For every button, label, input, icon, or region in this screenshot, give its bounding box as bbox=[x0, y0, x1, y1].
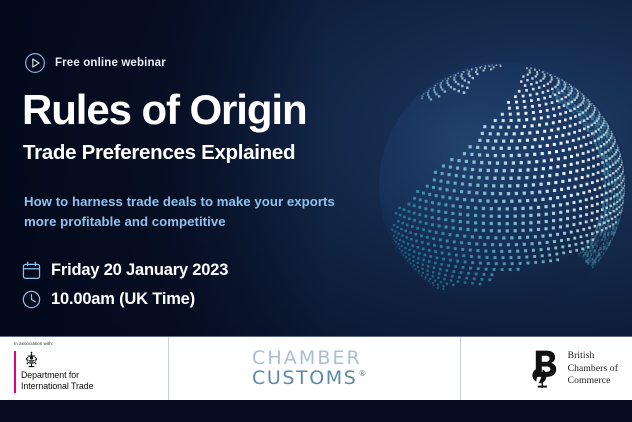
hero-section: Free online webinar Rules of Origin Trad… bbox=[0, 0, 632, 336]
hero-description: How to harness trade deals to make your … bbox=[24, 192, 354, 233]
royal-crest-icon bbox=[21, 351, 42, 368]
calendar-icon bbox=[21, 260, 42, 281]
dit-logo[interactable]: Department for International Trade bbox=[14, 351, 93, 393]
event-time: 10.00am (UK Time) bbox=[51, 290, 195, 309]
kicker-label: Free online webinar bbox=[55, 57, 166, 69]
footer-divider-right bbox=[460, 337, 461, 401]
chambercustoms-logo[interactable]: CHAMBER CUSTOMS ® bbox=[252, 349, 368, 388]
dotted-globe-graphic bbox=[368, 54, 632, 326]
chambercustoms-bottom: CUSTOMS ® bbox=[252, 369, 368, 389]
kicker: Free online webinar bbox=[24, 52, 166, 74]
bottom-bar bbox=[0, 400, 632, 422]
footer-divider-left bbox=[168, 337, 169, 401]
bcc-line-1: British bbox=[568, 350, 618, 363]
bcc-line-2: Chambers of bbox=[568, 363, 618, 376]
clock-icon bbox=[21, 289, 42, 310]
bcc-b-plant-icon bbox=[525, 349, 561, 389]
event-time-row: 10.00am (UK Time) bbox=[21, 285, 228, 314]
page-title: Rules of Origin bbox=[22, 88, 307, 132]
hero-content: Free online webinar Rules of Origin Trad… bbox=[0, 0, 400, 336]
registered-mark: ® bbox=[358, 370, 368, 378]
dit-line-2: International Trade bbox=[21, 381, 93, 392]
event-date: Friday 20 January 2023 bbox=[51, 261, 228, 280]
event-date-row: Friday 20 January 2023 bbox=[21, 256, 228, 285]
play-circle-icon bbox=[24, 52, 46, 74]
bcc-logo[interactable]: British Chambers of Commerce bbox=[525, 349, 618, 389]
chambercustoms-bottom-text: CUSTOMS bbox=[252, 369, 357, 389]
dit-accent-bar bbox=[14, 351, 16, 393]
partner-footer: In association with: bbox=[0, 336, 632, 400]
page-subtitle: Trade Preferences Explained bbox=[23, 141, 295, 165]
dit-line-1: Department for bbox=[21, 370, 93, 381]
webinar-promo-poster: Free online webinar Rules of Origin Trad… bbox=[0, 0, 632, 422]
bcc-line-3: Commerce bbox=[568, 375, 618, 388]
event-details: Friday 20 January 2023 10.00am (UK Time) bbox=[21, 256, 228, 314]
association-label: In association with: bbox=[14, 341, 53, 346]
